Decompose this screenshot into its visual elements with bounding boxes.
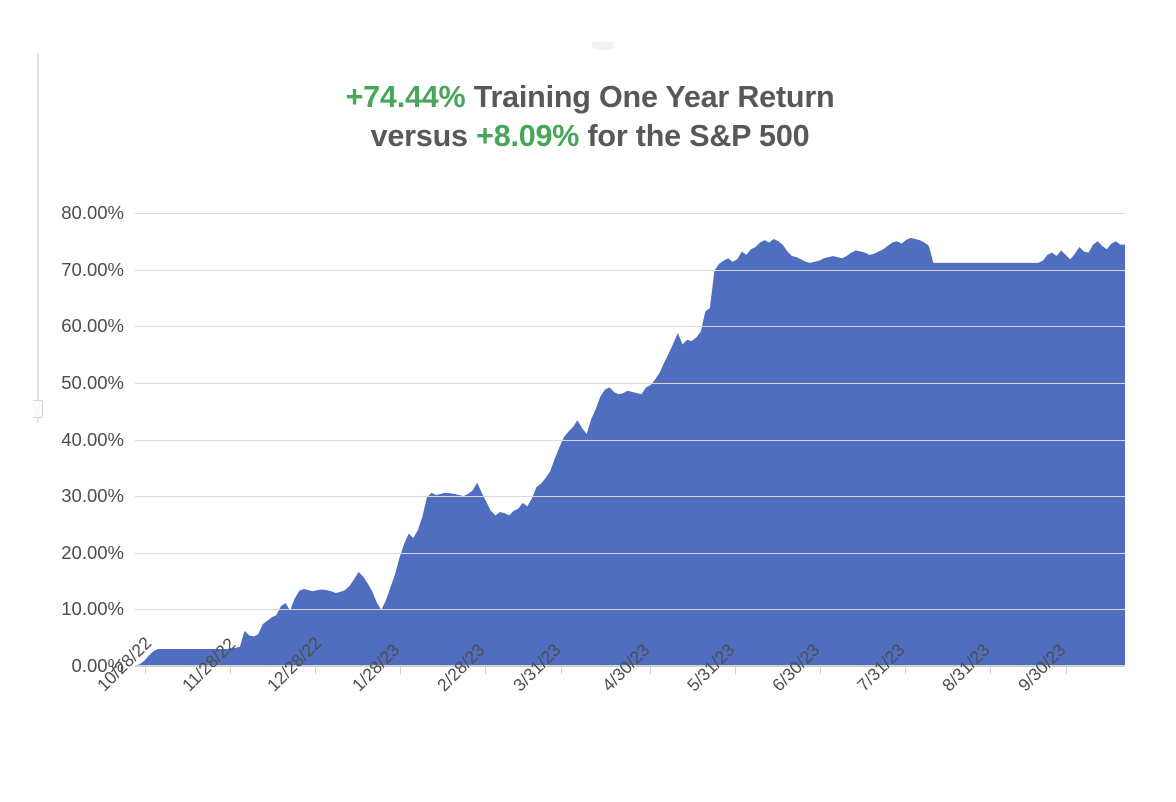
x-axis-tick-mark — [650, 666, 651, 674]
x-axis-tick-mark — [905, 666, 906, 674]
y-axis-tick-label: 30.00% — [14, 485, 124, 507]
gridline — [135, 383, 1125, 384]
gridline — [135, 496, 1125, 497]
chart-title: +74.44% Training One Year Return versus … — [160, 78, 1020, 156]
gridline — [135, 609, 1125, 610]
scrollbar-handle[interactable] — [33, 400, 43, 418]
chart-canvas: +74.44% Training One Year Return versus … — [0, 0, 1176, 802]
x-axis-tick-mark — [315, 666, 316, 674]
y-axis-tick-label: 10.00% — [14, 598, 124, 620]
chart-title-line-1: +74.44% Training One Year Return — [160, 78, 1020, 117]
gridline — [135, 553, 1125, 554]
x-axis-tick-mark — [990, 666, 991, 674]
x-axis-tick-mark — [1066, 666, 1067, 674]
x-axis-tick-mark — [400, 666, 401, 674]
chart-title-line-2: versus +8.09% for the S&P 500 — [160, 117, 1020, 156]
gridline — [135, 270, 1125, 271]
title-line-2-pre: versus — [371, 119, 476, 153]
x-axis-tick-mark — [735, 666, 736, 674]
y-axis-tick-label: 50.00% — [14, 372, 124, 394]
y-axis-tick-label: 80.00% — [14, 202, 124, 224]
x-axis-tick-mark — [820, 666, 821, 674]
scrollbar-track[interactable] — [37, 53, 39, 423]
x-axis-tick-mark — [145, 666, 146, 674]
title-line-1-rest: Training One Year Return — [465, 80, 834, 114]
x-axis-tick-mark — [561, 666, 562, 674]
x-axis-tick-mark — [230, 666, 231, 674]
gridline — [135, 440, 1125, 441]
y-axis-tick-label: 40.00% — [14, 429, 124, 451]
y-axis-tick-label: 70.00% — [14, 259, 124, 281]
top-edge-nub — [592, 42, 614, 50]
gridline — [135, 213, 1125, 214]
y-axis-tick-label: 20.00% — [14, 542, 124, 564]
y-axis-tick-label: 60.00% — [14, 315, 124, 337]
title-line-2-rest: for the S&P 500 — [579, 119, 809, 153]
title-return-value: +74.44% — [346, 80, 466, 114]
x-axis-tick-mark — [485, 666, 486, 674]
title-benchmark-value: +8.09% — [476, 119, 579, 153]
plot-area — [135, 213, 1125, 666]
gridline — [135, 326, 1125, 327]
